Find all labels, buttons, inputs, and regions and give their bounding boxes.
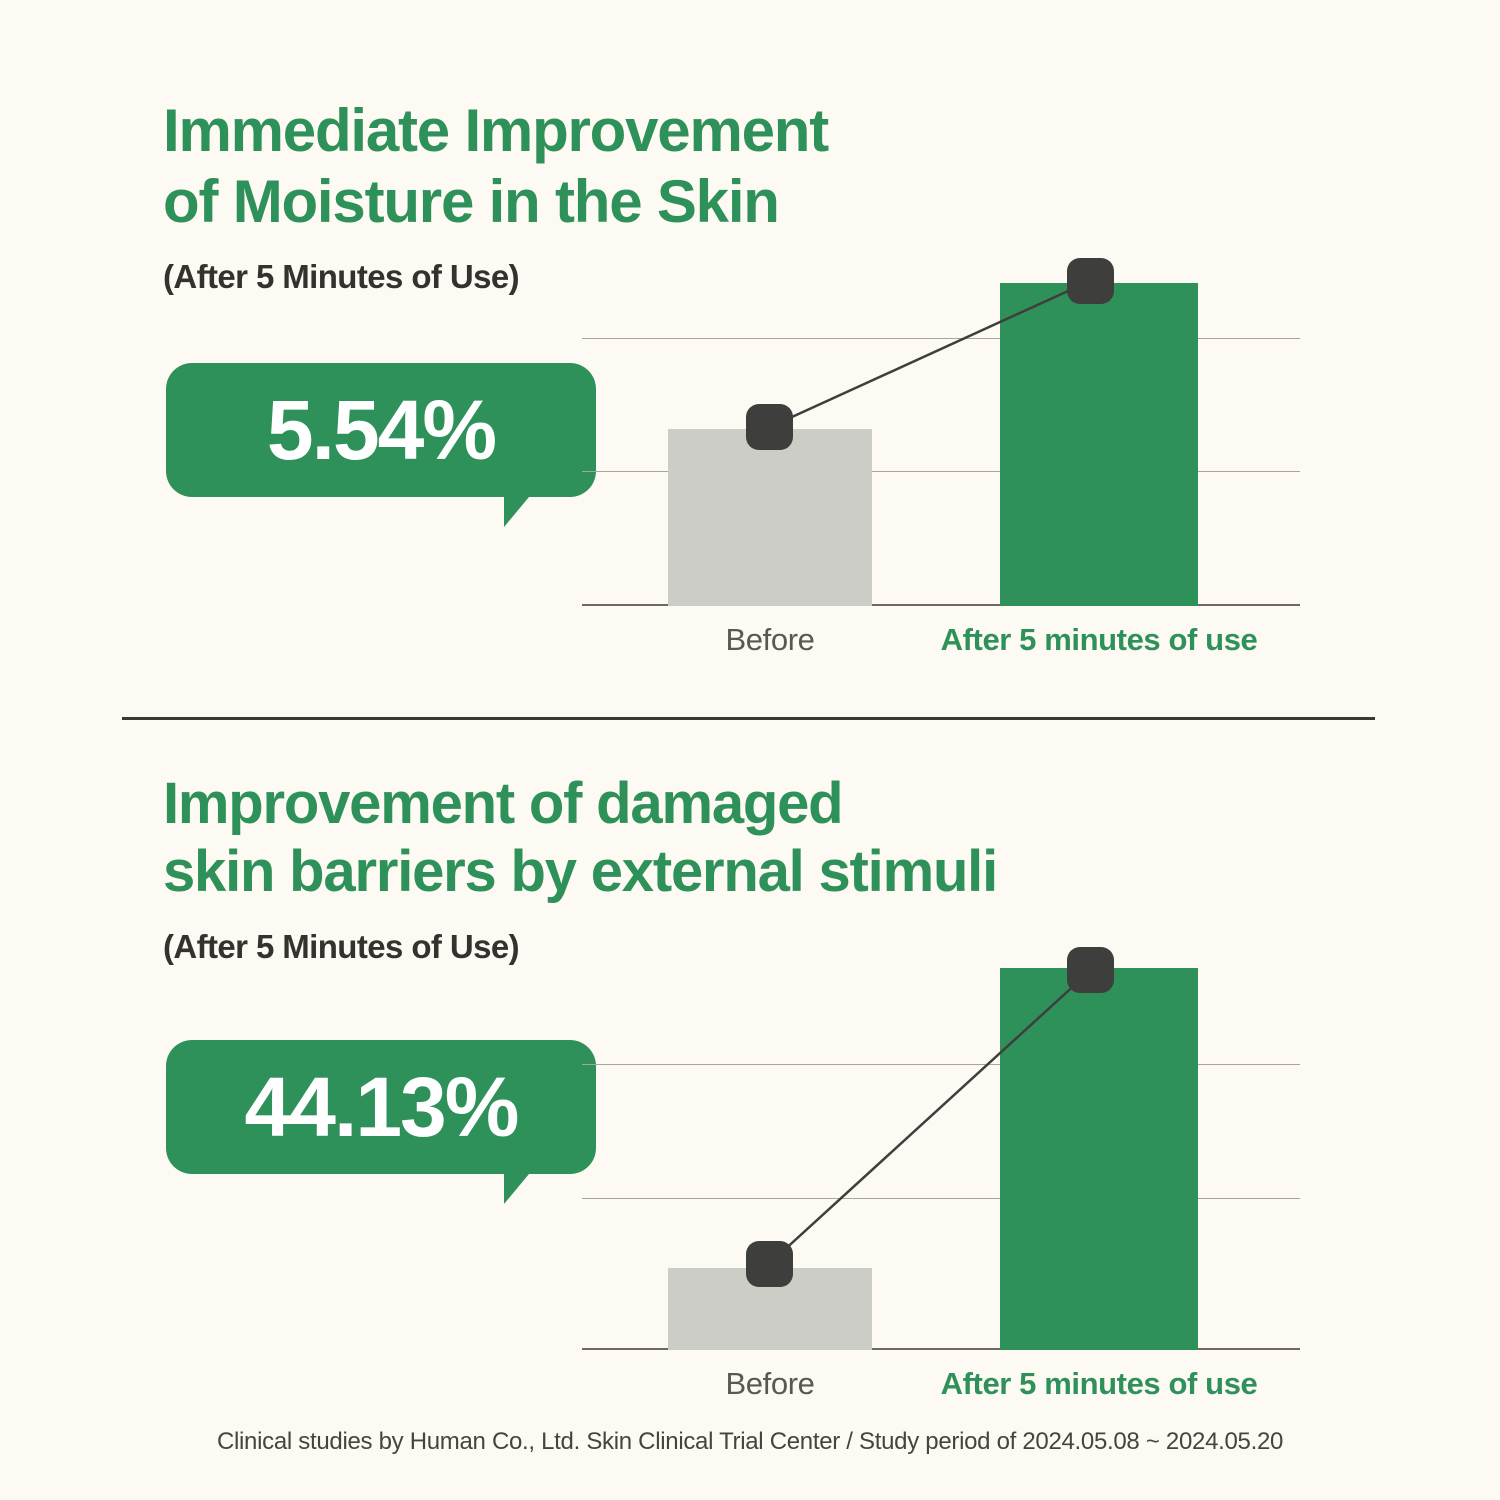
callout-bubble-tail xyxy=(504,1168,560,1204)
section-barrier: Improvement of damaged skin barriers by … xyxy=(0,718,1500,1418)
bar-chart-moisture: Before After 5 minutes of use xyxy=(582,270,1300,670)
callout-bubble-moisture: 5.54% xyxy=(166,363,596,497)
infographic-page: Immediate Improvement of Moisture in the… xyxy=(0,0,1500,1500)
callout-bubble-tail xyxy=(504,491,560,527)
callout-bubble-body: 5.54% xyxy=(166,363,596,497)
page-subtitle-secondary: (After 5 Minutes of Use) xyxy=(163,928,519,966)
callout-value: 5.54% xyxy=(267,388,495,472)
section-moisture: Immediate Improvement of Moisture in the… xyxy=(0,0,1500,718)
x-axis-label-after: After 5 minutes of use xyxy=(941,622,1258,658)
data-point-marker-after xyxy=(1067,947,1114,993)
page-subtitle: (After 5 Minutes of Use) xyxy=(163,258,519,296)
page-title-secondary: Improvement of damaged skin barriers by … xyxy=(163,770,997,907)
x-axis-label-before: Before xyxy=(726,1366,815,1402)
data-point-marker-before xyxy=(746,1241,793,1287)
callout-bubble-body: 44.13% xyxy=(166,1040,596,1174)
bar-chart-barrier: Before After 5 minutes of use xyxy=(582,958,1300,1378)
callout-bubble-barrier: 44.13% xyxy=(166,1040,596,1174)
plot-area xyxy=(582,958,1300,1350)
callout-value: 44.13% xyxy=(245,1065,518,1149)
trend-connector-line xyxy=(582,270,1300,606)
plot-area xyxy=(582,270,1300,606)
footer-source-note: Clinical studies by Human Co., Ltd. Skin… xyxy=(0,1428,1500,1456)
x-axis-label-after: After 5 minutes of use xyxy=(941,1366,1258,1402)
data-point-marker-before xyxy=(746,404,793,450)
data-point-marker-after xyxy=(1067,258,1114,304)
trend-connector-line xyxy=(582,958,1300,1350)
page-title: Immediate Improvement of Moisture in the… xyxy=(163,96,828,238)
x-axis-label-before: Before xyxy=(726,622,815,658)
